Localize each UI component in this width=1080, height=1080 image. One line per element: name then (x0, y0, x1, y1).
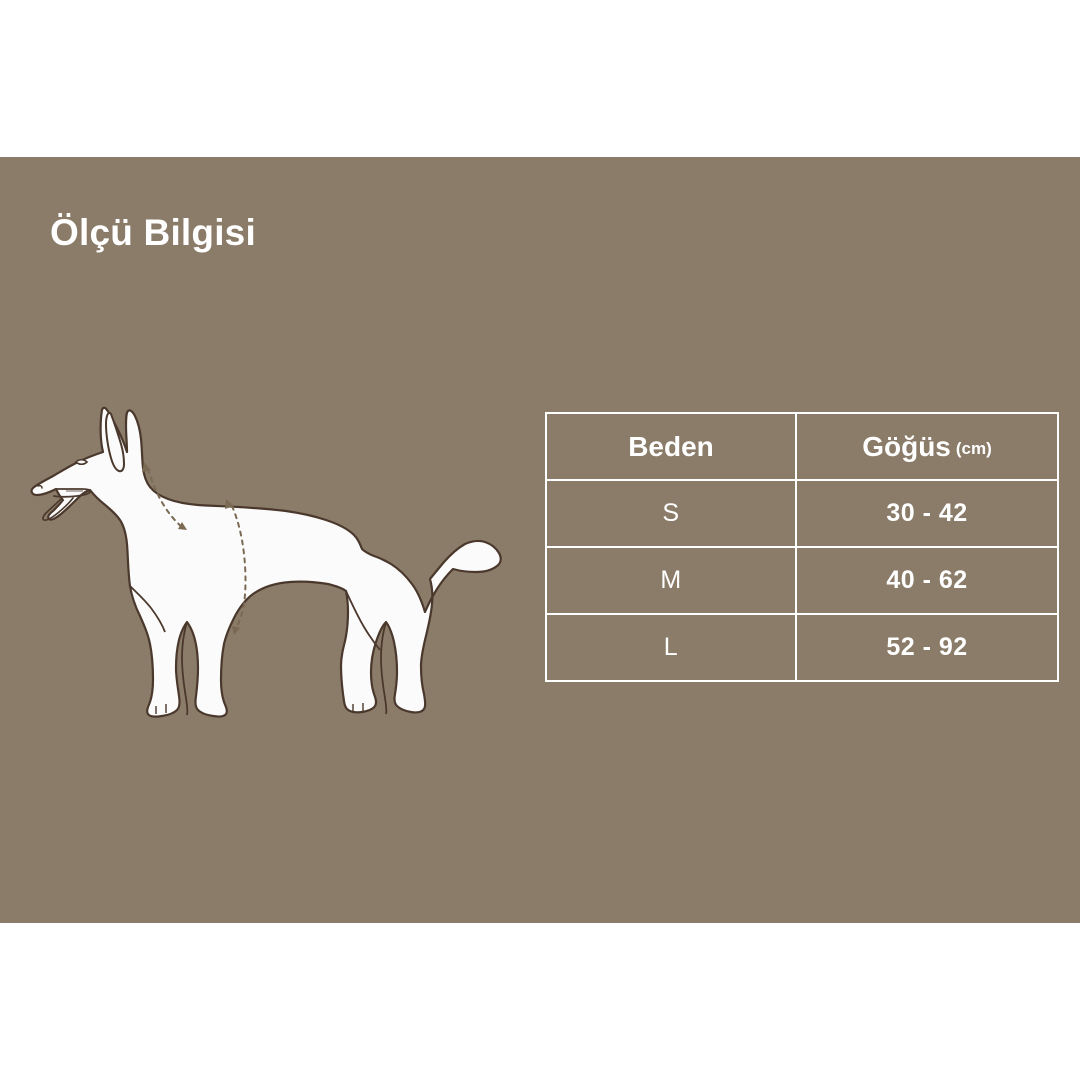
cell-size-s: S (546, 480, 796, 547)
table-row: S 30 - 42 (546, 480, 1058, 547)
cell-chest-m: 40 - 62 (796, 547, 1058, 614)
cell-chest-s: 30 - 42 (796, 480, 1058, 547)
column-header-chest-unit: (cm) (956, 439, 992, 458)
cell-chest-l: 52 - 92 (796, 614, 1058, 681)
table-row: L 52 - 92 (546, 614, 1058, 681)
size-chart-canvas: Ölçü Bilgisi (0, 0, 1080, 1080)
page-title: Ölçü Bilgisi (50, 214, 256, 251)
cell-size-l: L (546, 614, 796, 681)
table-header-row: Beden Göğüs(cm) (546, 413, 1058, 480)
dog-eye (76, 460, 87, 465)
cell-size-m: M (546, 547, 796, 614)
table-row: M 40 - 62 (546, 547, 1058, 614)
column-header-chest-label: Göğüs (862, 431, 951, 462)
size-chart-table: Beden Göğüs(cm) S 30 - 42 M 40 - 62 L 52… (545, 412, 1059, 682)
dog-body-shape (32, 408, 501, 717)
dog-illustration (20, 396, 510, 756)
dog-outline (32, 408, 501, 717)
dog-front-leg-divider (182, 622, 187, 715)
column-header-size: Beden (546, 413, 796, 480)
column-header-chest: Göğüs(cm) (796, 413, 1058, 480)
dog-hind-leg-divider (381, 622, 386, 714)
column-header-size-label: Beden (628, 431, 714, 462)
